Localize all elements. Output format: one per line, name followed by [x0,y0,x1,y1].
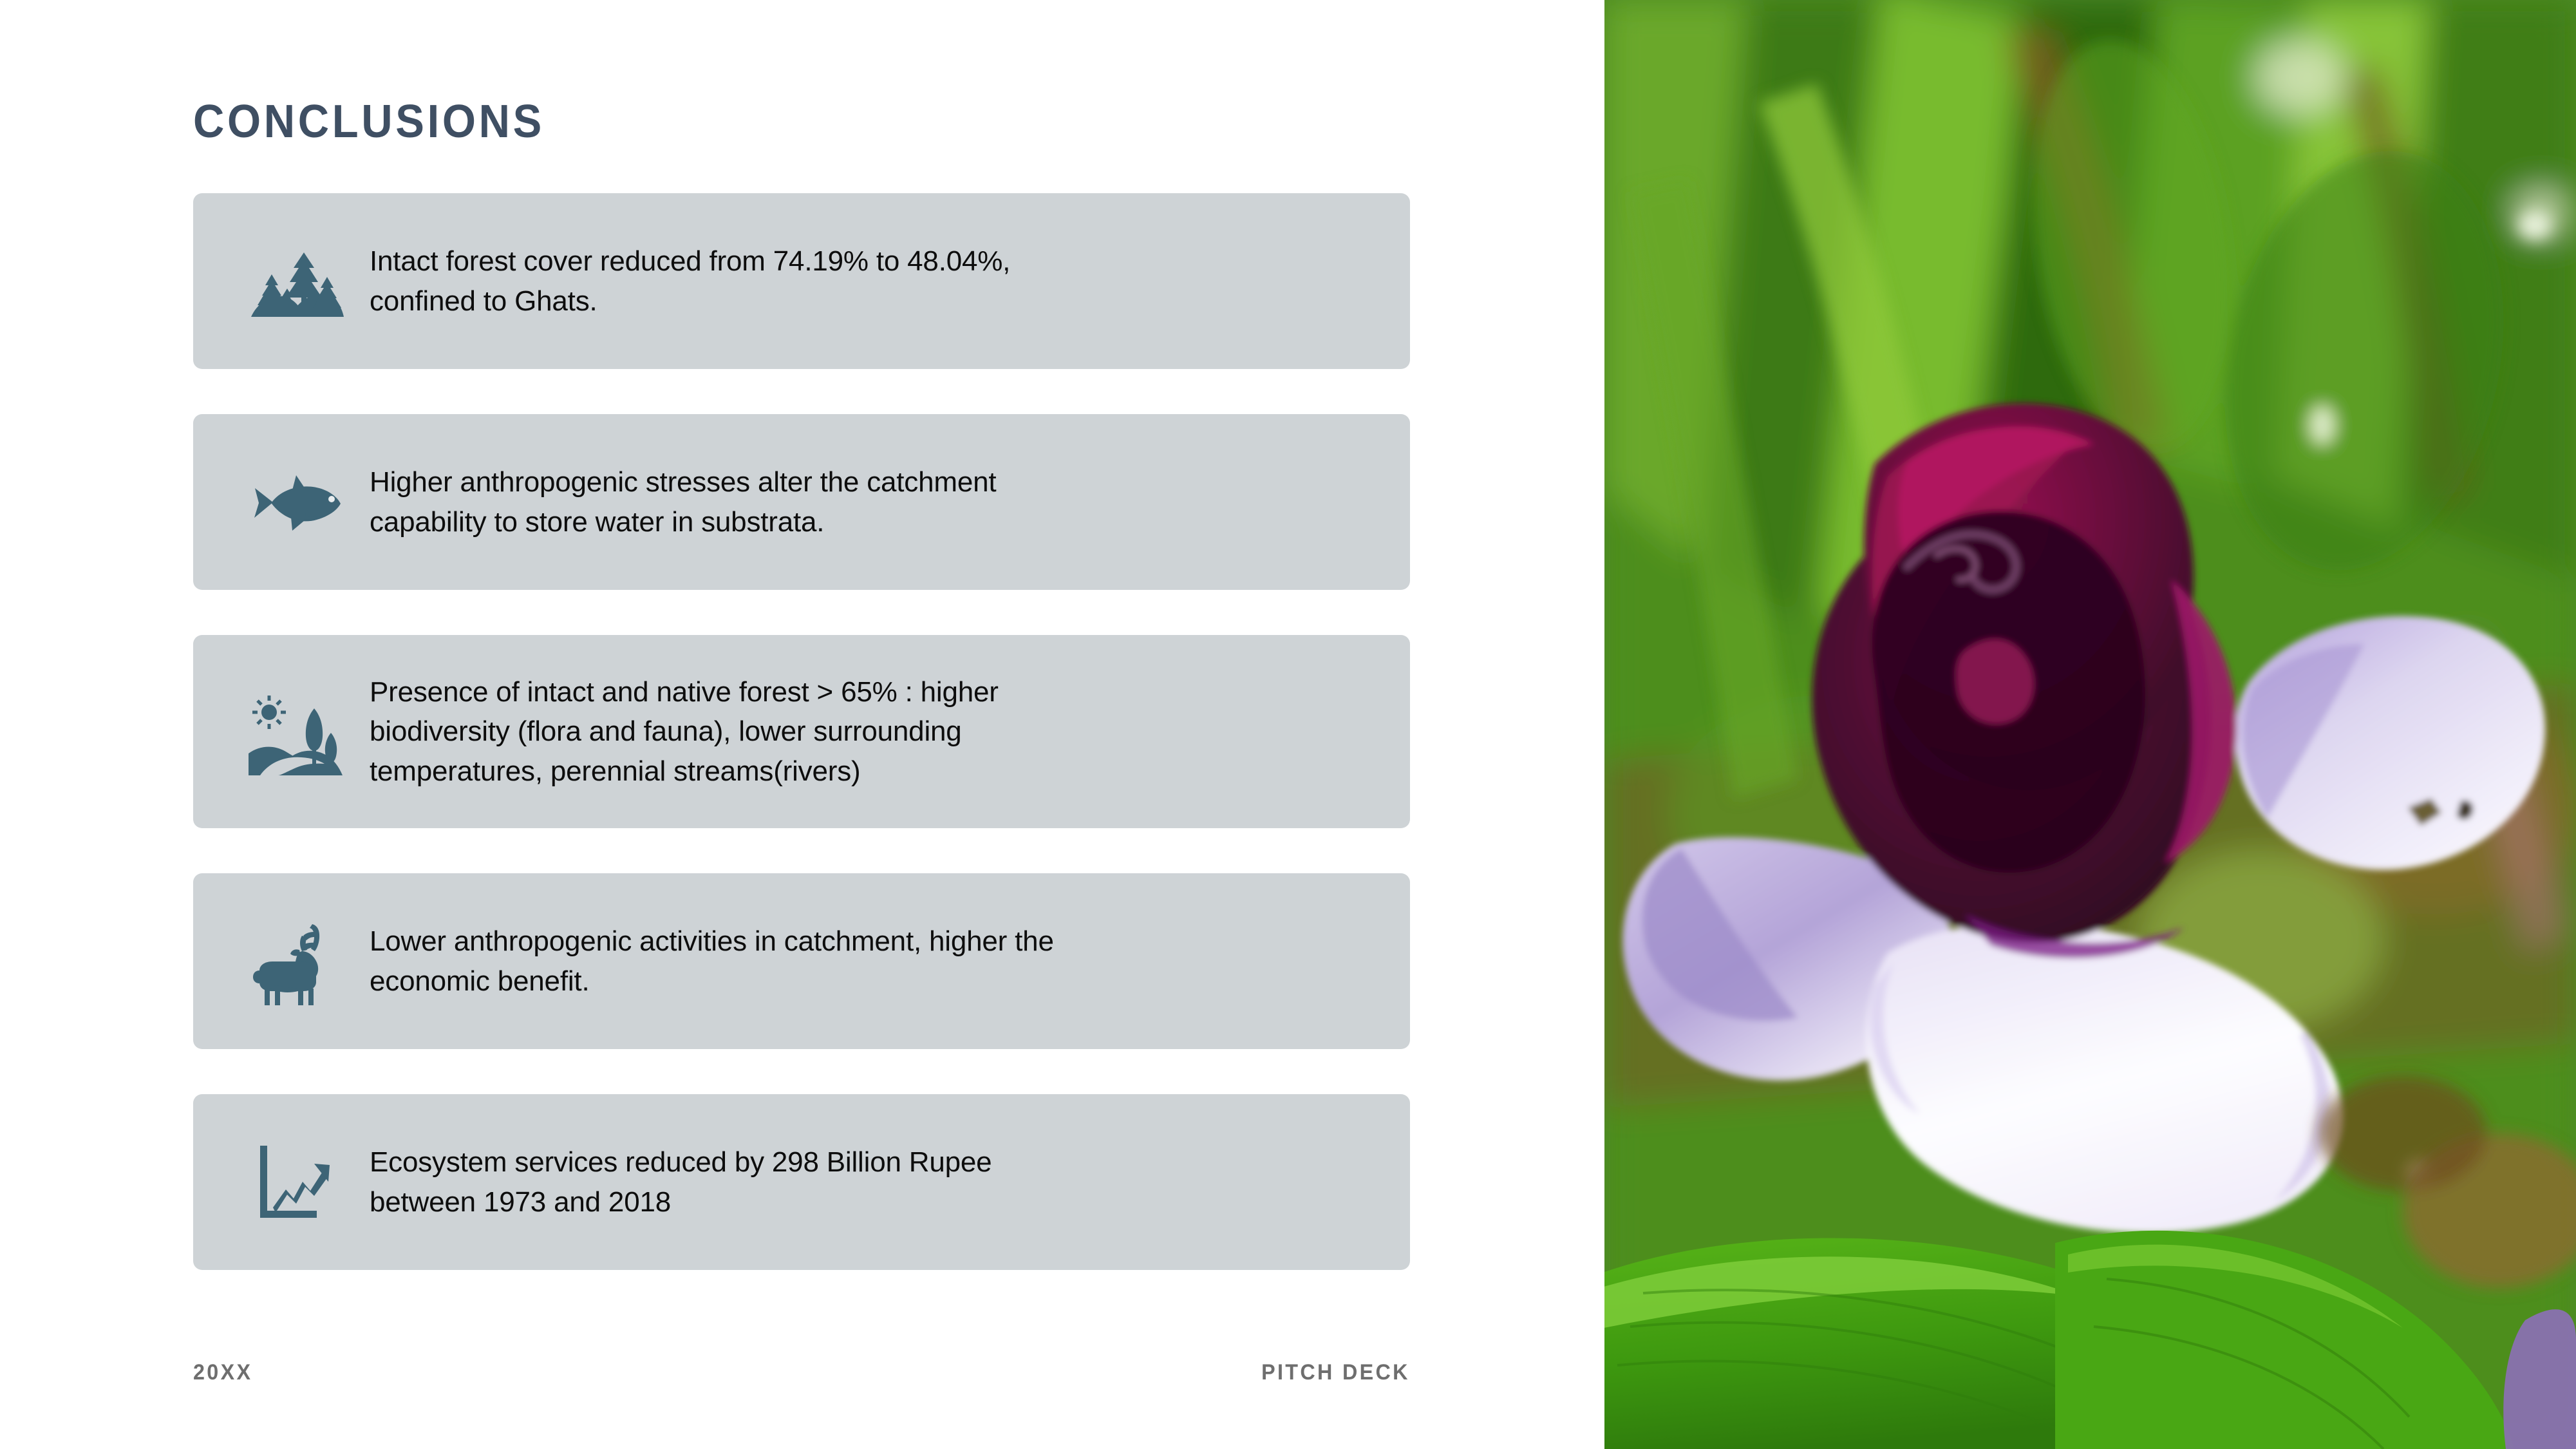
footer-deck-label: PITCH DECK [1261,1360,1410,1385]
conclusion-card-catchment-water[interactable]: Higher anthropogenic stresses alter the … [193,414,1410,590]
slide-footer: 20XX PITCH DECK [193,1360,1410,1385]
pine-forest-icon [221,223,370,339]
growth-chart-icon [221,1124,370,1240]
conclusion-card-text: Higher anthropogenic stresses alter the … [370,462,1410,542]
conclusion-card-text: Ecosystem services reduced by 298 Billio… [370,1142,1410,1222]
conclusions-card-list: Intact forest cover reduced from 74.19% … [193,193,1410,1315]
conclusion-card-economic-benefit[interactable]: Lower anthropogenic activities in catchm… [193,873,1410,1049]
footer-year: 20XX [193,1360,252,1385]
conclusion-card-text: Presence of intact and native forest > 6… [370,672,1410,791]
fish-icon [221,444,370,560]
conclusion-card-ecosystem-services[interactable]: Ecosystem services reduced by 298 Billio… [193,1094,1410,1270]
landscape-sun-trees-icon [221,674,370,790]
page-title: CONCLUSIONS [193,95,545,148]
flower-photograph [1604,0,2576,1449]
conclusion-card-text: Lower anthropogenic activities in catchm… [370,922,1410,1001]
conclusion-card-native-forest[interactable]: Presence of intact and native forest > 6… [193,635,1410,828]
conclusion-card-forest-cover[interactable]: Intact forest cover reduced from 74.19% … [193,193,1410,369]
slide-content-panel: CONCLUSIONS [0,0,1604,1449]
conclusion-card-text: Intact forest cover reduced from 74.19% … [370,241,1410,321]
deer-icon [221,904,370,1019]
